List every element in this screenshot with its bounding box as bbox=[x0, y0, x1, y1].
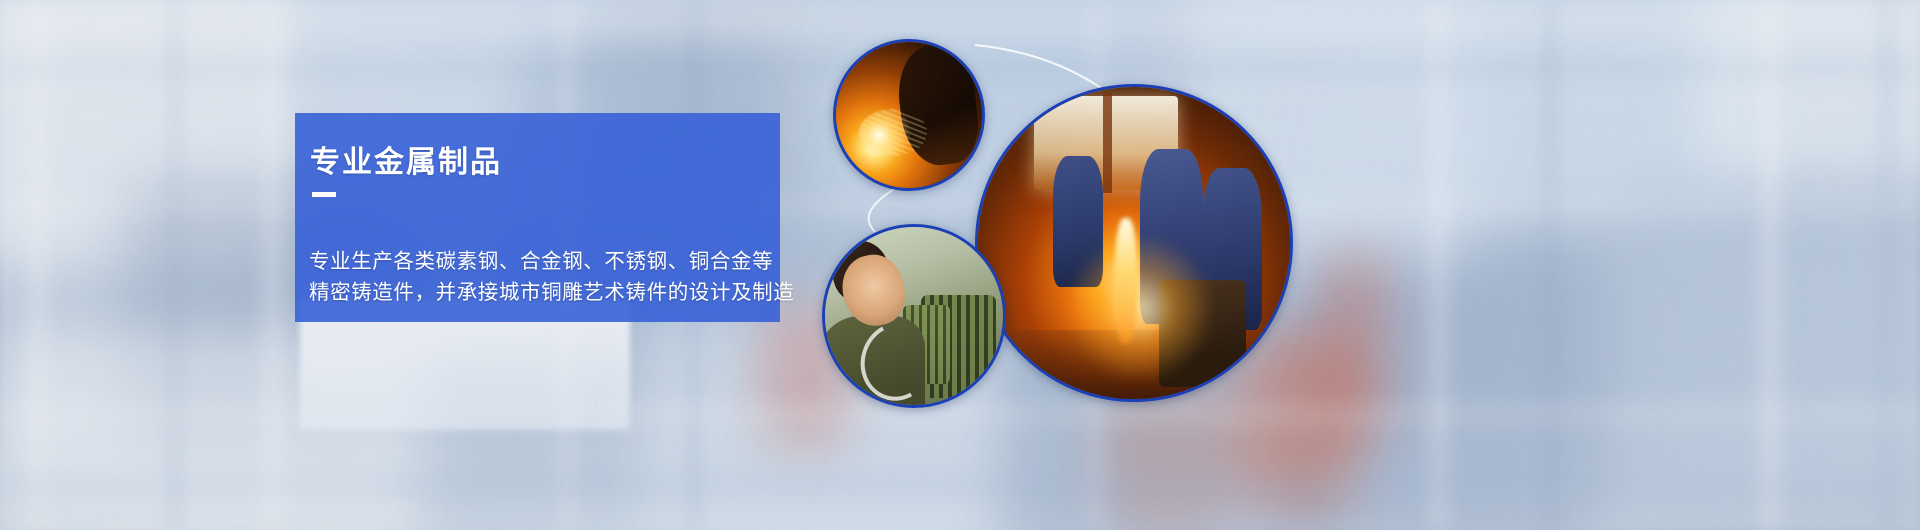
promo-description-line-1: 专业生产各类碳素钢、合金钢、不锈钢、铜合金等 bbox=[309, 246, 1009, 277]
title-divider bbox=[312, 192, 336, 197]
promo-description: 专业生产各类碳素钢、合金钢、不锈钢、铜合金等 精密铸造件，并承接城市铜雕艺术铸件… bbox=[309, 246, 1009, 308]
foundry-pour-photo bbox=[975, 84, 1293, 402]
welding-sparks-photo bbox=[833, 39, 985, 191]
hero-banner: 专业金属制品 专业生产各类碳素钢、合金钢、不锈钢、铜合金等 精密铸造件，并承接城… bbox=[0, 0, 1920, 530]
page-title: 专业金属制品 bbox=[310, 137, 502, 181]
promo-description-line-2: 精密铸造件，并承接城市铜雕艺术铸件的设计及制造 bbox=[309, 277, 1009, 308]
promo-text-panel: 专业金属制品 专业生产各类碳素钢、合金钢、不锈钢、铜合金等 精密铸造件，并承接城… bbox=[295, 113, 780, 322]
